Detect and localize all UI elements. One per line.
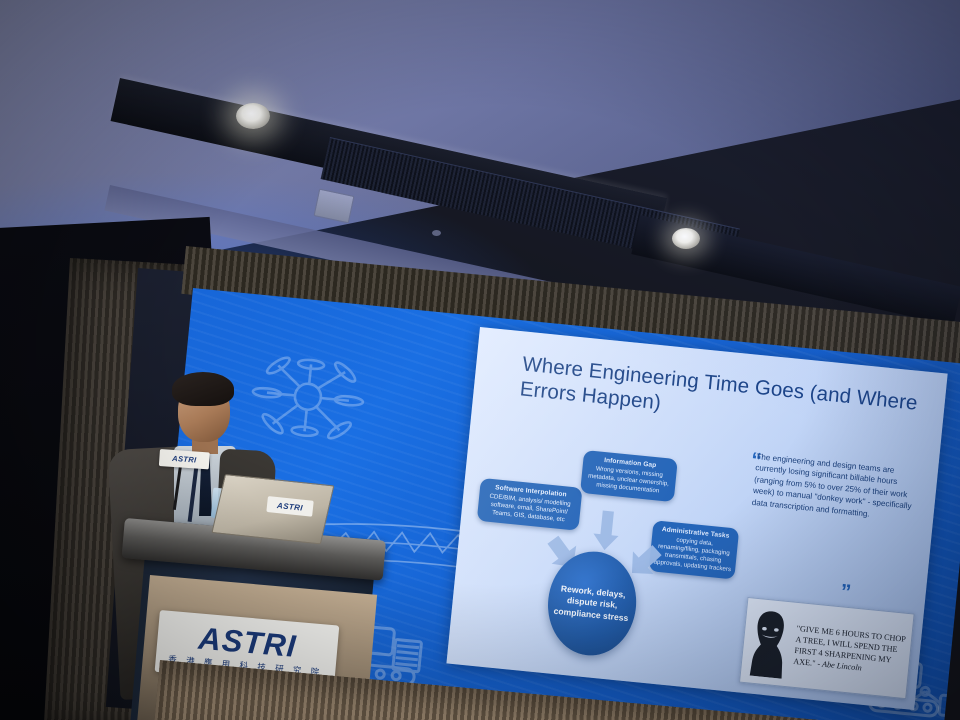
slide-node-information-gap: Information Gap Wrong versions, missing …	[580, 450, 678, 502]
downlight-icon	[672, 228, 700, 249]
slide-title: Where Engineering Time Goes (and Where E…	[519, 351, 922, 440]
lincoln-portrait-icon	[744, 605, 795, 679]
ceiling-sensor-dot	[432, 230, 441, 236]
quote-close-mark: ”	[840, 586, 852, 600]
conference-room-photo: Where Engineering Time Goes (and Where E…	[0, 0, 960, 720]
slide-quote-text: The engineering and design teams are cur…	[751, 451, 924, 525]
slide-node-software-interpolation: Software Interpolation CDE/BIM, analysis…	[477, 478, 583, 531]
node-body: copying data, renaming/filing, packaging…	[653, 535, 734, 575]
presentation-slide: Where Engineering Time Goes (and Where E…	[446, 327, 947, 710]
downlight-icon	[236, 103, 270, 129]
mic-flag-label: ASTRI	[172, 454, 197, 465]
drone-icon	[238, 336, 378, 458]
speaker-hair	[172, 372, 234, 406]
lincoln-attribution: - Abe Lincoln	[817, 659, 862, 672]
lincoln-quote-card: "GIVE ME 6 HOURS TO CHOP A TREE, I WILL …	[739, 597, 915, 699]
lincoln-quote-text: "GIVE ME 6 HOURS TO CHOP A TREE, I WILL …	[793, 623, 909, 679]
laptop-badge-label: ASTRI	[277, 501, 304, 513]
slide-node-administrative-tasks: Administrative Tasks copying data, renam…	[649, 520, 740, 580]
microphone-flag: ASTRI	[159, 449, 210, 469]
arrow-icon	[590, 507, 622, 554]
